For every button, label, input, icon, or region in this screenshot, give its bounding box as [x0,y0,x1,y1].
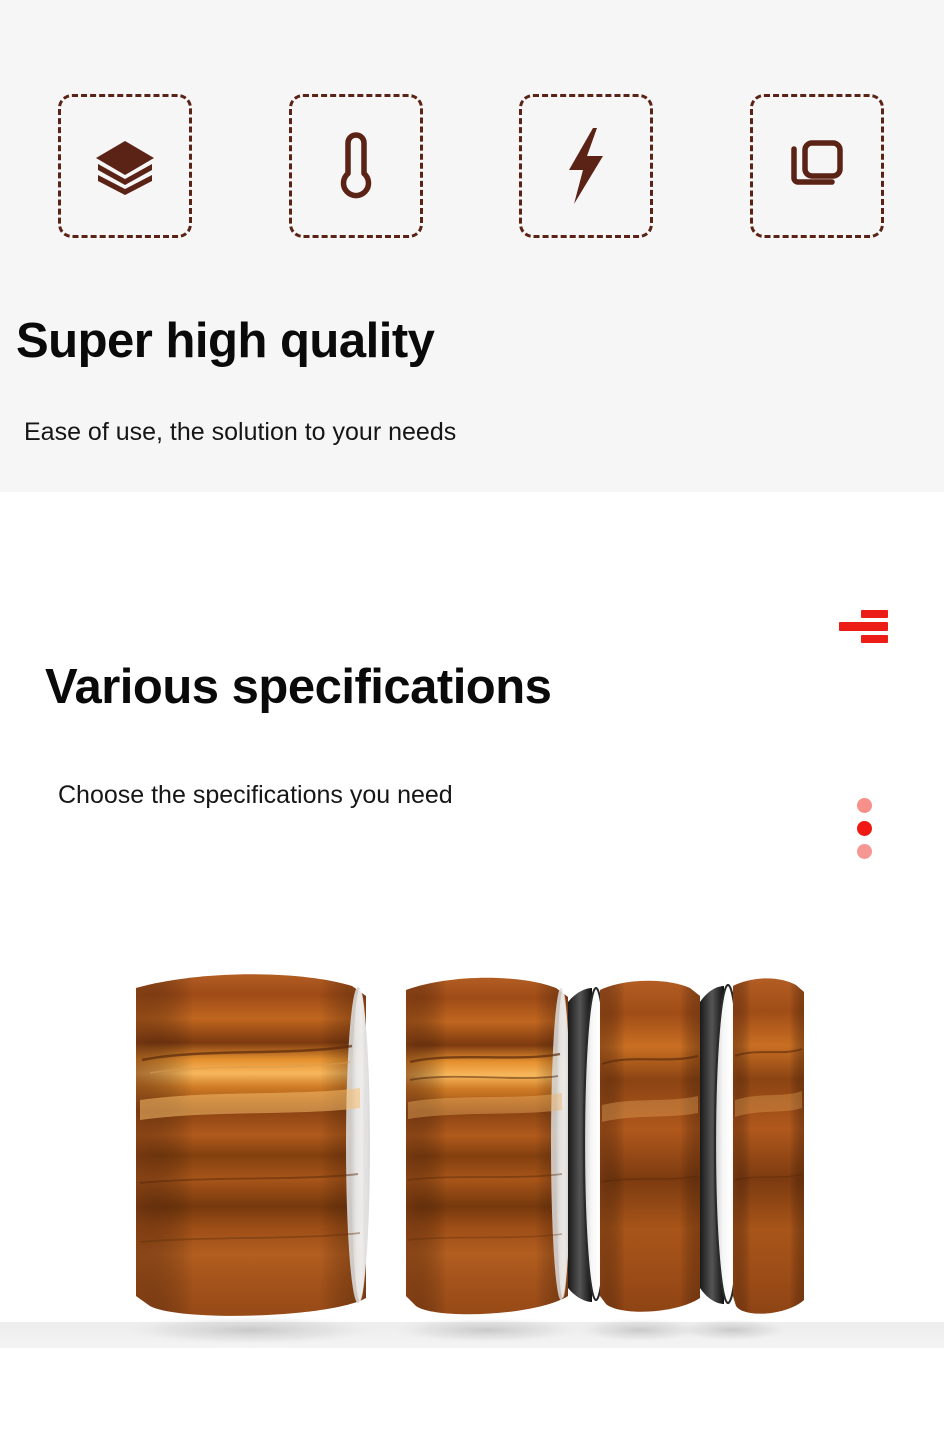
copy-layers-icon [788,137,846,195]
decor-bar-top [861,610,888,618]
thermometer-icon [335,131,377,201]
feature-card-layers[interactable] [58,94,192,238]
tape-roll-1 [135,974,370,1316]
decor-dot-middle [857,821,872,836]
feature-icon-row [58,94,884,238]
specifications-title: Various specifications [45,662,551,713]
feature-card-temperature[interactable] [289,94,423,238]
decor-dot-bottom [857,844,872,859]
decor-bar-middle [839,622,888,631]
specifications-subtitle: Choose the specifications you need [58,781,453,810]
hero-subtitle: Ease of use, the solution to your needs [24,418,456,447]
hero-title: Super high quality [16,316,434,367]
feature-card-multilayer[interactable] [750,94,884,238]
tape-roll-2 [406,978,571,1315]
tape-roll-3 [568,981,700,1312]
hero-section: Super high quality Ease of use, the solu… [0,0,944,492]
vertical-dots-icon [857,798,875,860]
decor-dot-top [857,798,872,813]
lightning-bolt-icon [563,128,609,204]
feature-card-power[interactable] [519,94,653,238]
polyimide-tape-rolls-image [0,930,944,1390]
align-right-bars-icon [836,610,888,642]
decor-bar-bottom [861,635,888,643]
tape-roll-4 [700,978,804,1313]
layers-icon [94,137,156,195]
